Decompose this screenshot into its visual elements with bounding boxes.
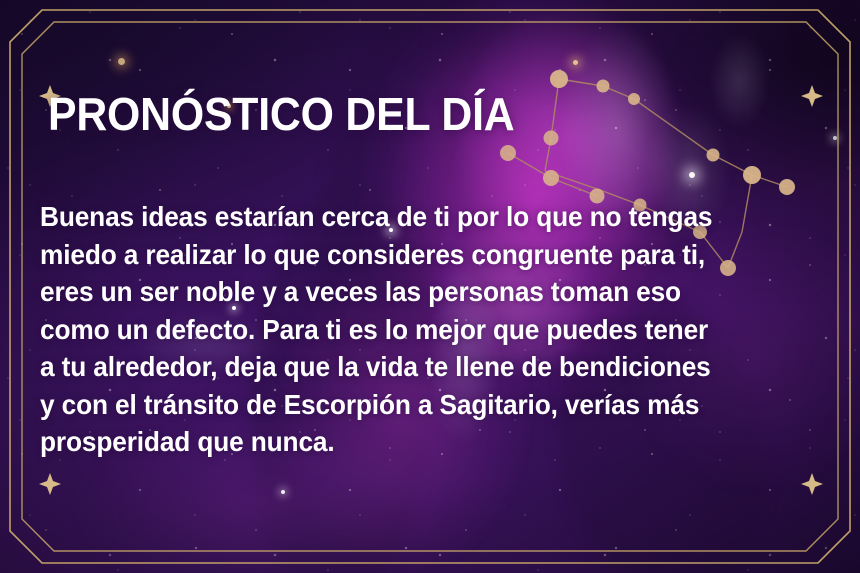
page-title: PRONÓSTICO DEL DÍA (48, 88, 514, 140)
body-line: prosperidad que nunca. (40, 423, 794, 461)
body-line: Buenas ideas estarían cerca de ti por lo… (40, 198, 794, 236)
card-content: PRONÓSTICO DEL DÍA Buenas ideas estarían… (0, 0, 860, 573)
body-line: a tu alrededor, deja que la vida te llen… (40, 348, 794, 386)
body-line: y con el tránsito de Escorpión a Sagitar… (40, 386, 794, 424)
forecast-body-text: Buenas ideas estarían cerca de ti por lo… (40, 198, 830, 461)
body-line: como un defecto. Para ti es lo mejor que… (40, 311, 794, 349)
body-line: miedo a realizar lo que consideres congr… (40, 236, 794, 274)
body-line: eres un ser noble y a veces las personas… (40, 273, 794, 311)
horoscope-card: PRONÓSTICO DEL DÍA Buenas ideas estarían… (0, 0, 860, 573)
